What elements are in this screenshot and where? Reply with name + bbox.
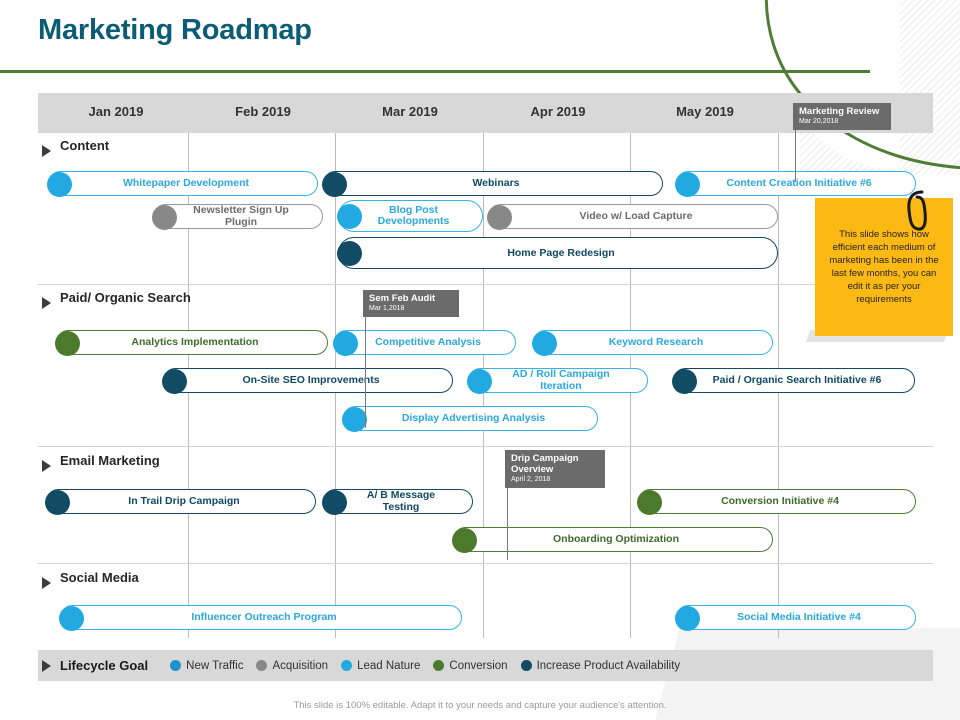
task-dot-increase-product-availability [45,490,70,515]
task-dot-lead-nature [337,204,362,229]
milestone-sem-feb-audit[interactable]: Sem Feb Audit Mar 1,2018 [363,290,459,317]
task-bar-onboarding-optimization[interactable]: Onboarding Optimization [453,527,773,552]
task-bar-ab-message-testing[interactable]: A/ B Message Testing [323,489,473,514]
task-bar-blog-post-developments[interactable]: Blog Post Developments [338,200,483,232]
task-dot-lead-nature [675,172,700,197]
expander-icon-paid-organic-search[interactable] [42,297,51,309]
task-dot-lead-nature [467,369,492,394]
task-label: Display Advertising Analysis [376,413,565,425]
expander-icon-content[interactable] [42,145,51,157]
task-dot-increase-product-availability [672,369,697,394]
task-dot-conversion [55,331,80,356]
paperclip-icon [900,188,934,244]
task-bar-newsletter-sign-up-plugin[interactable]: Newsletter Sign Up Plugin [153,204,323,229]
task-bar-webinars[interactable]: Webinars [323,171,663,196]
legend-dot-acquisition [256,660,267,671]
timeline-month-mar: Mar 2019 [340,104,480,119]
task-bar-on-site-seo-improvements[interactable]: On-Site SEO Improvements [163,368,453,393]
legend-dot-increase-product-availability [521,660,532,671]
legend-label: New Traffic [186,660,243,672]
title-divider [0,70,870,73]
timeline-month-may: May 2019 [635,104,775,119]
task-label: Conversion Initiative #4 [695,496,859,508]
task-bar-paid-organic-search-initiative[interactable]: Paid / Organic Search Initiative #6 [673,368,915,393]
expander-icon-email-marketing[interactable] [42,460,51,472]
section-label-paid-organic-search: Paid/ Organic Search [60,290,191,305]
milestone-line-drip-campaign-overview [507,485,508,560]
legend-label: Acquisition [272,660,328,672]
section-divider-1 [38,284,933,285]
task-label: Webinars [446,178,539,190]
task-bar-analytics-implementation[interactable]: Analytics Implementation [56,330,328,355]
legend-item-conversion[interactable]: Conversion [433,660,507,672]
milestone-title: Drip Campaign Overview [511,453,599,475]
milestone-title: Marketing Review [799,106,885,117]
task-label: Whitepaper Development [97,178,269,190]
task-label: Influencer Outreach Program [165,612,356,624]
milestone-date: Mar 1,2018 [369,304,453,313]
task-bar-competitive-analysis[interactable]: Competitive Analysis [334,330,516,355]
section-label-social-media: Social Media [60,570,139,585]
task-dot-lead-nature [532,331,557,356]
task-label: In Trail Drip Campaign [102,496,259,508]
task-bar-whitepaper-development[interactable]: Whitepaper Development [48,171,318,196]
task-dot-lead-nature [342,407,367,432]
task-bar-social-media-initiative[interactable]: Social Media Initiative #4 [676,605,916,630]
milestone-line-sem-feb-audit [365,313,366,428]
section-label-content: Content [60,138,109,153]
task-label: Home Page Redesign [481,248,634,259]
footer-note: This slide is 100% editable. Adapt it to… [0,700,960,711]
task-label: On-Site SEO Improvements [216,375,399,387]
task-dot-increase-product-availability [322,490,347,515]
section-divider-2 [38,446,933,447]
task-bar-ad-roll-campaign-iteration[interactable]: AD / Roll Campaign Iteration [468,368,648,393]
legend-dot-conversion [433,660,444,671]
task-bar-content-creation-initiative[interactable]: Content Creation Initiative #6 [676,171,916,196]
task-dot-acquisition [487,205,512,230]
task-label: Content Creation Initiative #6 [700,178,891,190]
roadmap-chart: Jan 2019 Feb 2019 Mar 2019 Apr 2019 May … [38,93,933,638]
milestone-date: Mar 20,2018 [799,117,885,126]
legend-dot-new-traffic [170,660,181,671]
task-dot-lead-nature [675,606,700,631]
task-bar-video-w-load-capture[interactable]: Video w/ Load Capture [488,204,778,229]
task-dot-conversion [452,528,477,553]
legend-bar: Lifecycle Goal New Traffic Acquisition L… [38,650,933,681]
task-bar-in-trail-drip-campaign[interactable]: In Trail Drip Campaign [46,489,316,514]
task-label: AD / Roll Campaign Iteration [469,369,647,392]
task-bar-influencer-outreach-program[interactable]: Influencer Outreach Program [60,605,462,630]
milestone-marketing-review[interactable]: Marketing Review Mar 20,2018 [793,103,891,130]
task-label: Newsletter Sign Up Plugin [154,205,322,228]
task-bar-display-advertising-analysis[interactable]: Display Advertising Analysis [343,406,598,431]
page-title: Marketing Roadmap [38,14,312,47]
expander-icon-social-media[interactable] [42,577,51,589]
legend-label: Lead Nature [357,660,420,672]
task-label: Analytics Implementation [105,337,278,349]
task-bar-keyword-research[interactable]: Keyword Research [533,330,773,355]
task-dot-lead-nature [333,331,358,356]
section-label-email-marketing: Email Marketing [60,453,160,468]
task-label: Video w/ Load Capture [554,211,713,223]
section-divider-3 [38,563,933,564]
legend-item-acquisition[interactable]: Acquisition [256,660,328,672]
task-label: Social Media Initiative #4 [711,612,881,624]
task-label: Paid / Organic Search Initiative #6 [687,375,902,387]
task-label: Onboarding Optimization [527,534,699,546]
task-label: Competitive Analysis [349,337,501,349]
milestone-drip-campaign-overview[interactable]: Drip Campaign Overview April 2, 2018 [505,450,605,488]
task-dot-conversion [637,490,662,515]
task-dot-lead-nature [59,606,84,631]
task-dot-increase-product-availability [337,241,362,266]
task-bar-home-page-redesign[interactable]: Home Page Redesign [338,237,778,269]
legend-item-increase-product-availability[interactable]: Increase Product Availability [521,660,681,672]
milestone-title: Sem Feb Audit [369,293,453,304]
legend-item-lead-nature[interactable]: Lead Nature [341,660,420,672]
task-dot-increase-product-availability [322,172,347,197]
legend-items: New Traffic Acquisition Lead Nature Conv… [170,660,693,672]
timeline-month-jan: Jan 2019 [46,104,186,119]
milestone-date: April 2, 2018 [511,475,599,484]
legend-item-new-traffic[interactable]: New Traffic [170,660,243,672]
task-label: Keyword Research [583,337,724,349]
legend-label: Increase Product Availability [537,660,681,672]
timeline-month-apr: Apr 2019 [488,104,628,119]
task-bar-conversion-initiative[interactable]: Conversion Initiative #4 [638,489,916,514]
legend-title: Lifecycle Goal [60,658,148,673]
legend-label: Conversion [449,660,507,672]
timeline-month-feb: Feb 2019 [193,104,333,119]
slide-canvas: Marketing Roadmap Jan 2019 Feb 2019 Mar … [0,0,960,720]
task-dot-lead-nature [47,172,72,197]
legend-dot-lead-nature [341,660,352,671]
expander-icon-lifecycle-goal[interactable] [42,660,51,672]
task-dot-increase-product-availability [162,369,187,394]
task-dot-acquisition [152,205,177,230]
